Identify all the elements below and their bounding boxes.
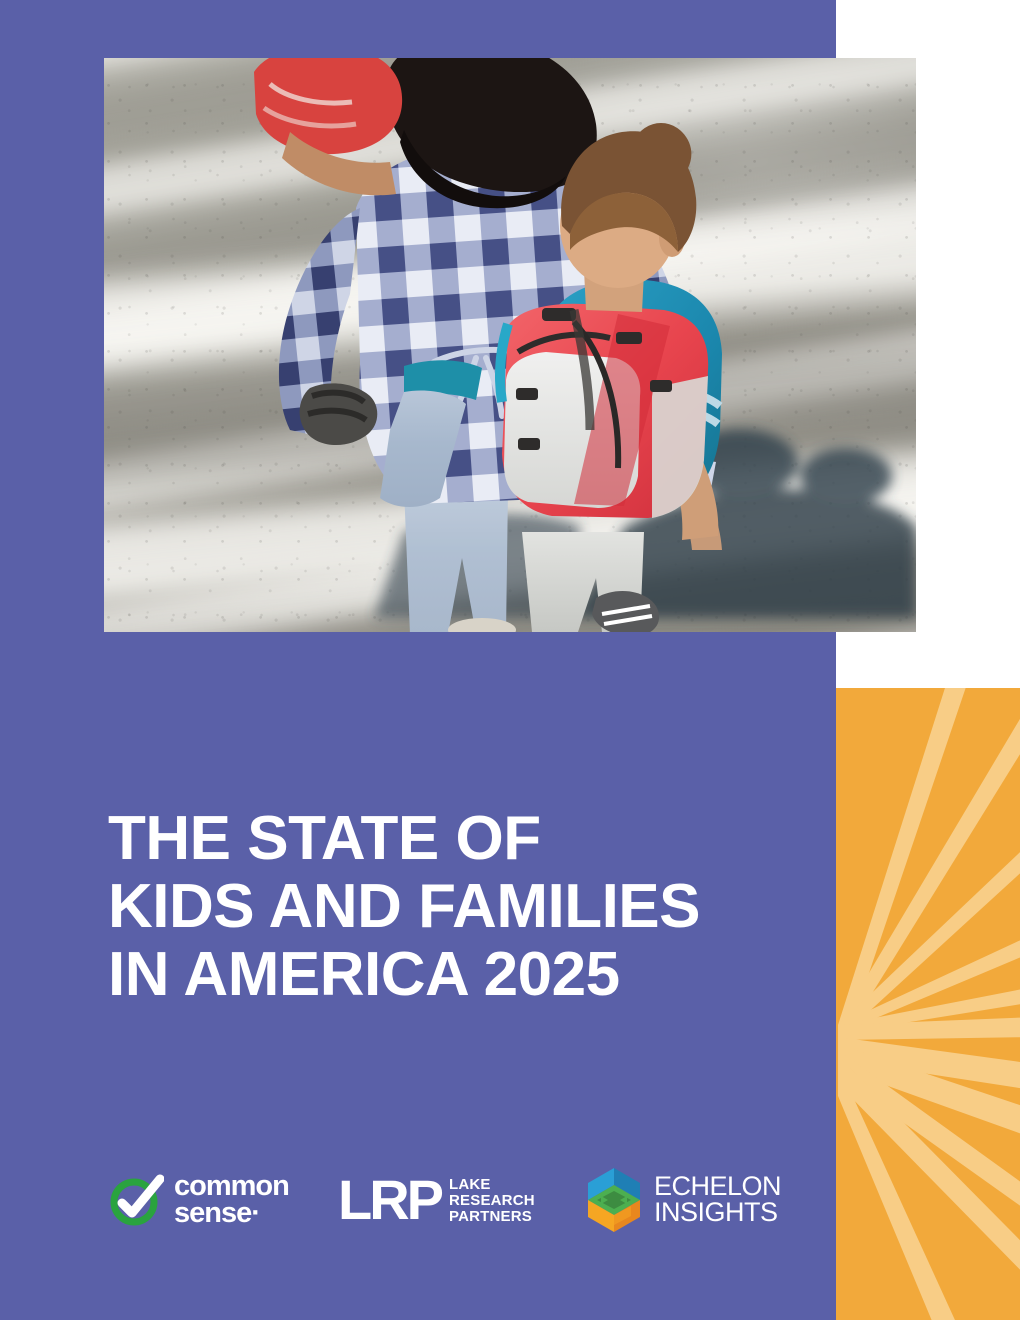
common-sense-line-1: common xyxy=(174,1173,289,1200)
cover-photograph xyxy=(104,58,916,632)
page-title: THE STATE OF KIDS AND FAMILIES IN AMERIC… xyxy=(108,805,808,1009)
common-sense-logo[interactable]: common sense· xyxy=(108,1172,316,1228)
lrp-line-3: PARTNERS xyxy=(449,1209,535,1225)
echelon-wordmark: ECHELON INSIGHTS xyxy=(654,1174,781,1226)
partner-logos: common sense· LRP LAKE RESEARCH PARTNERS xyxy=(108,1155,781,1245)
check-circle-icon xyxy=(108,1172,164,1228)
report-cover-page: THE STATE OF KIDS AND FAMILIES IN AMERIC… xyxy=(0,0,1020,1320)
orange-sunburst-panel xyxy=(836,688,1020,1320)
title-line-3: IN AMERICA 2025 xyxy=(108,941,808,1009)
echelon-line-2: INSIGHTS xyxy=(654,1200,781,1226)
photo-figures xyxy=(104,58,916,632)
lrp-line-1: LAKE xyxy=(449,1177,535,1193)
title-line-1: THE STATE OF xyxy=(108,805,808,873)
lrp-line-2: RESEARCH xyxy=(449,1193,535,1209)
common-sense-line-2: sense· xyxy=(174,1200,289,1227)
lrp-acronym: LRP xyxy=(338,1172,441,1228)
echelon-insights-logo[interactable]: ECHELON INSIGHTS xyxy=(583,1166,781,1234)
lrp-logo[interactable]: LRP LAKE RESEARCH PARTNERS xyxy=(338,1172,563,1228)
title-line-2: KIDS AND FAMILIES xyxy=(108,873,808,941)
hexagon-cube-icon xyxy=(583,1166,645,1234)
sunburst-graphic xyxy=(836,688,1020,1320)
lrp-wordmark: LAKE RESEARCH PARTNERS xyxy=(449,1175,535,1224)
common-sense-wordmark: common sense· xyxy=(174,1173,289,1228)
